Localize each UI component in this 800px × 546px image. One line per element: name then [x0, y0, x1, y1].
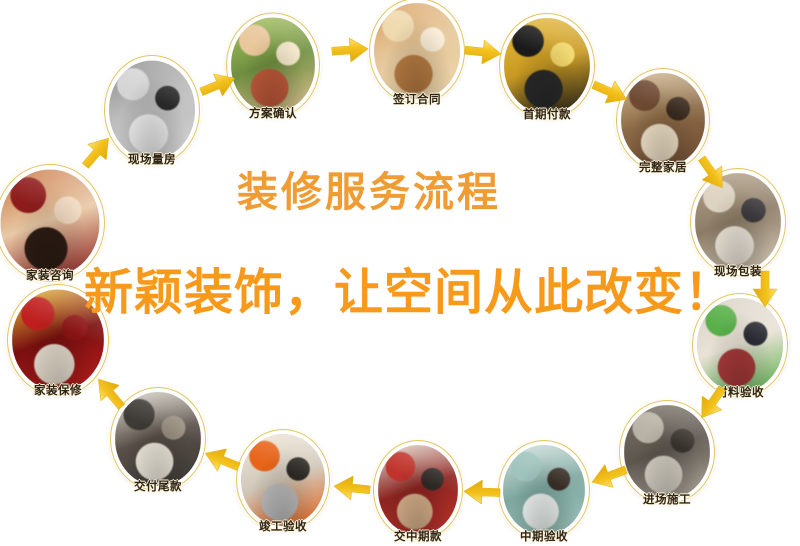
step-label: 中期验收 — [520, 528, 568, 544]
step-label: 家装保修 — [34, 382, 82, 398]
step-label: 进场施工 — [643, 491, 691, 507]
step-photo-sign-contract — [374, 3, 460, 99]
step-photo-midterm-payment — [378, 445, 458, 535]
step-label: 现场量房 — [128, 151, 176, 167]
step-photo-midterm-check — [503, 445, 585, 535]
page-title: 装修服务流程 — [237, 172, 501, 213]
step-photo-final-payment — [115, 392, 201, 486]
page-subtitle: 新颖装饰，让空间从此改变！ — [84, 268, 734, 317]
step-label: 竣工验收 — [259, 518, 307, 534]
step-label: 完整家居 — [639, 159, 687, 175]
step-photo-plan-confirm — [231, 18, 315, 113]
step-photo-start-construction — [624, 405, 710, 499]
process-flow-poster: 家装咨询 现场量房 方案确认 签订合同 首期付款 完整家居 现场包装 材料验收 — [0, 0, 800, 546]
step-label: 签订合同 — [393, 91, 441, 107]
step-label: 方案确认 — [249, 105, 297, 121]
step-photo-consultation-desk — [1, 170, 100, 277]
step-photo-completion-check — [241, 434, 325, 526]
step-photo-initial-payment — [504, 18, 590, 114]
step-label: 交中期款 — [394, 528, 442, 544]
step-label: 家装咨询 — [26, 267, 74, 283]
step-photo-site-measure — [109, 61, 195, 160]
step-label: 首期付款 — [523, 106, 571, 122]
step-label: 交付尾款 — [134, 478, 182, 494]
